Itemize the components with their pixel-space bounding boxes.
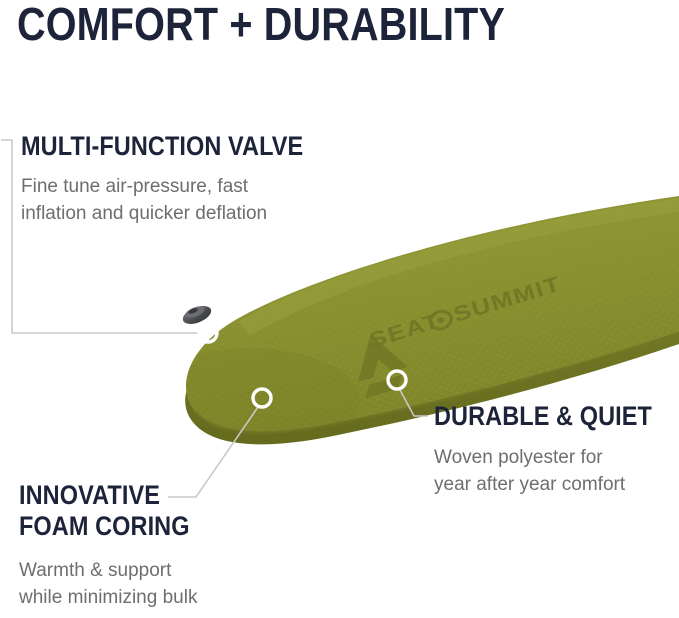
- callout-heading-foam-line1: INNOVATIVE: [19, 480, 190, 511]
- callout-body-foam-line1: Warmth & support: [19, 557, 197, 584]
- leader-line-durable: [400, 390, 428, 416]
- callout-body-foam-line2: while minimizing bulk: [19, 584, 197, 611]
- callout-body-valve-line2: inflation and quicker deflation: [21, 200, 267, 227]
- product-infographic: COMFORT + DURABILITY: [0, 0, 679, 618]
- callout-body-valve-line1: Fine tune air-pressure, fast: [21, 173, 267, 200]
- marker-foam: [253, 389, 271, 407]
- callout-body-durable-line1: Woven polyester for: [434, 444, 625, 471]
- callout-body-foam: Warmth & support while minimizing bulk: [19, 557, 197, 611]
- leader-line-valve: [1, 140, 198, 333]
- callout-body-durable-line2: year after year comfort: [434, 471, 625, 498]
- callout-heading-valve: MULTI-FUNCTION VALVE: [21, 131, 303, 162]
- callout-heading-foam-line2: FOAM CORING: [19, 511, 190, 542]
- marker-durable: [388, 371, 406, 389]
- callout-heading-foam: INNOVATIVE FOAM CORING: [19, 480, 190, 542]
- callout-body-durable: Woven polyester for year after year comf…: [434, 444, 625, 498]
- callout-body-valve: Fine tune air-pressure, fast inflation a…: [21, 173, 267, 227]
- callout-heading-durable: DURABLE & QUIET: [434, 401, 652, 432]
- marker-valve: [199, 324, 217, 342]
